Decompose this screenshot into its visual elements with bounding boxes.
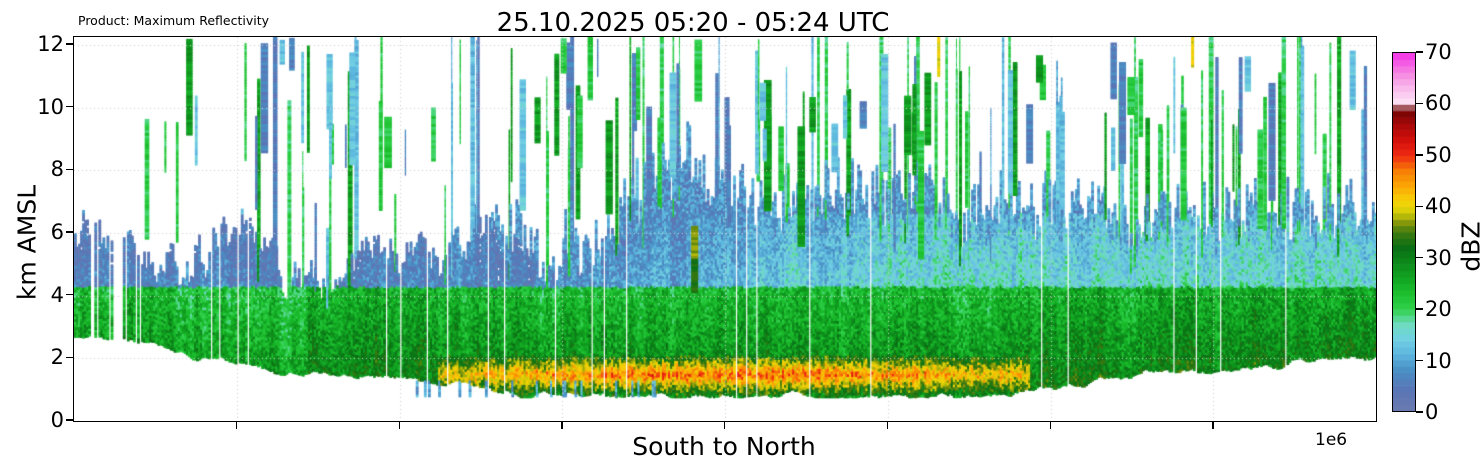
colorbar (1392, 52, 1416, 412)
radar-cross-section-figure: Product: Maximum Reflectivity 25.10.2025… (0, 0, 1482, 470)
x-axis-tick-mark (887, 421, 888, 429)
colorbar-tick-label: 20 (1425, 297, 1452, 321)
y-axis-tick-mark (66, 231, 74, 232)
x-axis-offset-text: 1e6 (1315, 430, 1347, 450)
colorbar-tick-label: 10 (1425, 349, 1452, 373)
colorbar-tick-mark (1416, 51, 1423, 52)
colorbar-tick-mark (1416, 308, 1423, 309)
y-axis-tick-label: 0 (4, 408, 64, 432)
x-axis-tick-mark (1050, 421, 1051, 429)
x-axis-tick-mark (561, 421, 562, 429)
colorbar-tick-mark (1416, 103, 1423, 104)
colorbar-tick-label: 0 (1425, 400, 1438, 424)
figure-title: 25.10.2025 05:20 - 05:24 UTC (0, 8, 1386, 38)
x-axis-tick-mark (399, 421, 400, 429)
x-axis-tick-mark (236, 421, 237, 429)
colorbar-tick-mark (1416, 360, 1423, 361)
y-axis-tick-label: 12 (4, 32, 64, 56)
colorbar-tick-label: 60 (1425, 91, 1452, 115)
x-axis-label: South to North (73, 432, 1375, 461)
colorbar-tick-mark (1416, 154, 1423, 155)
colorbar-tick-label: 30 (1425, 246, 1452, 270)
colorbar-gradient (1392, 52, 1416, 412)
reflectivity-heatmap (74, 37, 1376, 421)
y-axis-label: km AMSL (13, 113, 42, 373)
colorbar-tick-mark (1416, 257, 1423, 258)
colorbar-tick-mark (1416, 411, 1423, 412)
y-axis-tick-mark (66, 357, 74, 358)
x-axis-tick-mark (1212, 421, 1213, 429)
y-axis-tick-mark (66, 169, 74, 170)
y-axis-tick-mark (66, 43, 74, 44)
colorbar-tick-label: 40 (1425, 194, 1452, 218)
colorbar-tick-label: 70 (1425, 40, 1452, 64)
colorbar-axis-label: dBZ (1457, 157, 1482, 337)
plot-area (73, 36, 1377, 422)
colorbar-tick-mark (1416, 206, 1423, 207)
y-axis-tick-mark (66, 106, 74, 107)
y-axis-tick-mark (66, 294, 74, 295)
colorbar-tick-label: 50 (1425, 143, 1452, 167)
y-axis-tick-mark (66, 419, 74, 420)
x-axis-tick-mark (724, 421, 725, 429)
